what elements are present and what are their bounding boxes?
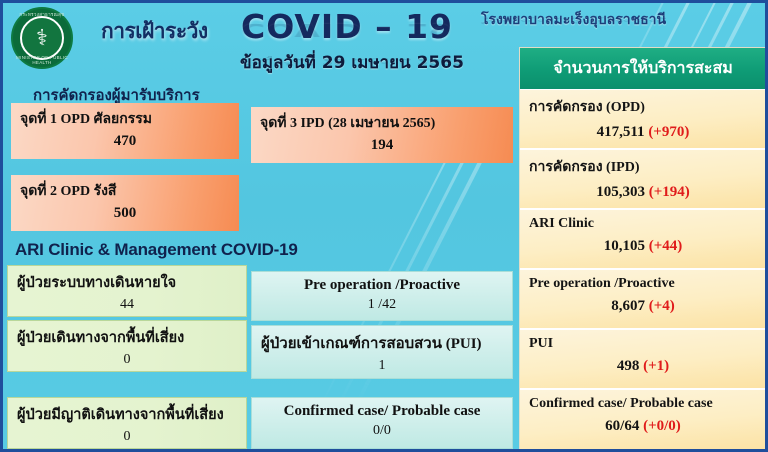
cumulative-preop-label: Pre operation /Proactive bbox=[520, 276, 766, 292]
ari-box-risk-area-travel: ผู้ป่วยเดินทางจากพื้นที่เสี่ยง 0 bbox=[7, 320, 247, 372]
ministry-of-public-health-logo: ⚕ กระทรวงสาธารณสุข MINISTRY OF PUBLIC HE… bbox=[11, 7, 73, 69]
middle-box-pui: ผู้ป่วยเข้าเกณฑ์การสอบสวน (PUI) 1 bbox=[251, 325, 513, 379]
cumulative-preop-value: 8,607 (+4) bbox=[520, 298, 766, 315]
screening-box-opd1: จุดที่ 1 OPD ศัลยกรรม 470 bbox=[11, 103, 239, 159]
page-title-thai: การเฝ้าระวัง bbox=[101, 15, 208, 48]
middle-box-confirmed-case: Confirmed case/ Probable case 0/0 bbox=[251, 397, 513, 449]
cumulative-row-confirmed-case: Confirmed case/ Probable case 60/64 (+0/… bbox=[520, 390, 766, 450]
data-date-line: ข้อมูลวันที่ 29 เมษายน 2565 bbox=[240, 49, 464, 76]
cumulative-ari-value: 10,105 (+44) bbox=[520, 238, 766, 255]
cumulative-services-panel: จำนวนการให้บริการสะสม การคัดกรอง (OPD) 4… bbox=[519, 47, 767, 451]
ari-section-heading: ARI Clinic & Management COVID-19 bbox=[15, 240, 298, 260]
cumulative-confirmed-value: 60/64 (+0/0) bbox=[520, 418, 766, 435]
cumulative-row-opd: การคัดกรอง (OPD) 417,511 (+970) bbox=[520, 90, 766, 150]
cumulative-ari-label: ARI Clinic bbox=[520, 216, 766, 232]
cumulative-opd-label: การคัดกรอง (OPD) bbox=[520, 96, 766, 118]
ari-relative-risk-value: 0 bbox=[8, 429, 246, 445]
cumulative-panel-title: จำนวนการให้บริการสะสม bbox=[553, 56, 733, 81]
decorative-diagonal-streaks-secondary bbox=[335, 153, 515, 353]
cumulative-preop-delta: (+4) bbox=[649, 298, 675, 314]
screening-box-opd2: จุดที่ 2 OPD รังสี 500 bbox=[11, 175, 239, 231]
cumulative-ari-delta: (+44) bbox=[649, 238, 683, 254]
cumulative-ipd-number: 105,303 bbox=[596, 184, 645, 200]
covid-surveillance-dashboard: ⚕ กระทรวงสาธารณสุข MINISTRY OF PUBLIC HE… bbox=[0, 0, 768, 452]
pre-operation-label: Pre operation /Proactive bbox=[252, 277, 512, 294]
screening-opd1-label: จุดที่ 1 OPD ศัลยกรรม bbox=[11, 108, 239, 130]
screening-opd1-value: 470 bbox=[11, 133, 239, 150]
pui-value: 1 bbox=[252, 358, 512, 374]
hospital-name: โรงพยาบาลมะเร็งอุบลราชธานี bbox=[481, 9, 666, 31]
cumulative-row-pre-operation: Pre operation /Proactive 8,607 (+4) bbox=[520, 270, 766, 330]
ari-relative-risk-label: ผู้ป่วยมีญาติเดินทางจากพื้นที่เสี่ยง bbox=[8, 403, 246, 426]
screening-opd2-value: 500 bbox=[11, 205, 239, 222]
cumulative-pui-number: 498 bbox=[617, 358, 640, 374]
cumulative-confirmed-label: Confirmed case/ Probable case bbox=[520, 396, 766, 412]
pui-label: ผู้ป่วยเข้าเกณฑ์การสอบสวน (PUI) bbox=[252, 331, 512, 355]
screening-box-ipd: จุดที่ 3 IPD (28 เมษายน 2565) 194 bbox=[251, 107, 513, 163]
cumulative-confirmed-delta: (+0/0) bbox=[643, 418, 681, 434]
cumulative-ipd-label: การคัดกรอง (IPD) bbox=[520, 156, 766, 178]
ari-risk-area-label: ผู้ป่วยเดินทางจากพื้นที่เสี่ยง bbox=[8, 326, 246, 349]
cumulative-pui-label: PUI bbox=[520, 336, 766, 352]
ari-box-relative-risk-travel: ผู้ป่วยมีญาติเดินทางจากพื้นที่เสี่ยง 0 bbox=[7, 397, 247, 449]
confirmed-case-label: Confirmed case/ Probable case bbox=[252, 403, 512, 420]
ari-box-respiratory: ผู้ป่วยระบบทางเดินหายใจ 44 bbox=[7, 265, 247, 317]
cumulative-pui-value: 498 (+1) bbox=[520, 358, 766, 375]
cumulative-pui-delta: (+1) bbox=[643, 358, 669, 374]
middle-box-pre-operation: Pre operation /Proactive 1 /42 bbox=[251, 271, 513, 321]
ari-respiratory-label: ผู้ป่วยระบบทางเดินหายใจ bbox=[8, 271, 246, 294]
screening-ipd-value: 194 bbox=[251, 137, 513, 154]
pre-operation-value: 1 /42 bbox=[252, 297, 512, 313]
cumulative-opd-delta: (+970) bbox=[648, 124, 689, 140]
ari-respiratory-value: 44 bbox=[8, 297, 246, 313]
cumulative-ipd-delta: (+194) bbox=[649, 184, 690, 200]
cumulative-ipd-value: 105,303 (+194) bbox=[520, 184, 766, 201]
caduceus-icon: ⚕ bbox=[36, 27, 48, 49]
screening-opd2-label: จุดที่ 2 OPD รังสี bbox=[11, 180, 239, 202]
screening-ipd-label: จุดที่ 3 IPD (28 เมษายน 2565) bbox=[251, 112, 513, 134]
confirmed-case-value: 0/0 bbox=[252, 423, 512, 439]
logo-arc-top-text: กระทรวงสาธารณสุข bbox=[11, 11, 73, 18]
cumulative-row-pui: PUI 498 (+1) bbox=[520, 330, 766, 390]
page-title-covid: COVID – 19 bbox=[241, 7, 453, 46]
cumulative-confirmed-number: 60/64 bbox=[605, 418, 639, 434]
ari-risk-area-value: 0 bbox=[8, 352, 246, 368]
cumulative-opd-number: 417,511 bbox=[597, 124, 645, 140]
cumulative-opd-value: 417,511 (+970) bbox=[520, 124, 766, 141]
logo-arc-bottom-text: MINISTRY OF PUBLIC HEALTH bbox=[11, 55, 73, 65]
cumulative-preop-number: 8,607 bbox=[611, 298, 645, 314]
cumulative-row-ari-clinic: ARI Clinic 10,105 (+44) bbox=[520, 210, 766, 270]
cumulative-ari-number: 10,105 bbox=[604, 238, 645, 254]
cumulative-row-ipd: การคัดกรอง (IPD) 105,303 (+194) bbox=[520, 150, 766, 210]
cumulative-panel-header: จำนวนการให้บริการสะสม bbox=[520, 48, 766, 90]
